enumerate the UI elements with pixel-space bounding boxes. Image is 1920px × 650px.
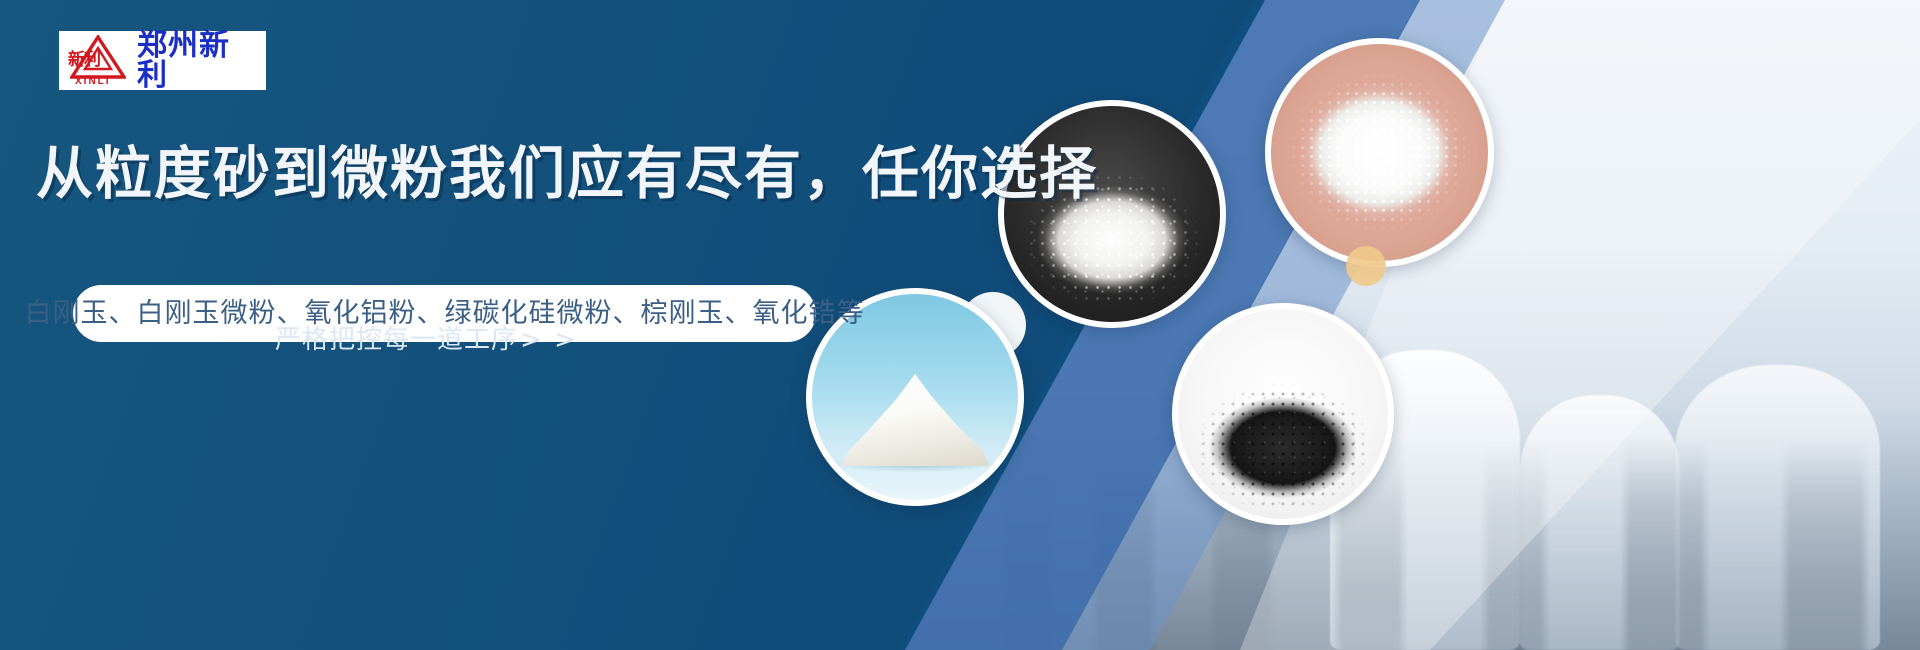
cta-label: 严格把控每一道工序: [275, 325, 518, 355]
product-list-text: 白刚玉、白刚玉微粉、氧化铝粉、绿碳化硅微粉、棕刚玉、氧化锆等: [25, 300, 865, 327]
promotional-banner: 新利 XINLI 郑州新利 从粒度砂到微粉我们应有尽有，任你选择 白刚玉、白刚玉…: [0, 0, 1920, 650]
product-photo-white-alumina-powder: [1265, 38, 1494, 267]
grain-texture: [1004, 106, 1220, 322]
cta-link[interactable]: 严格把控每一道工序> >: [275, 327, 578, 353]
decorative-amber-dot: [1346, 246, 1386, 286]
xinli-triangle-mark-icon: 新利 XINLI: [67, 34, 129, 88]
headline: 从粒度砂到微粉我们应有尽有，任你选择: [36, 146, 1098, 203]
cta-arrows: > >: [520, 325, 578, 355]
product-photo-black-silicon-carbide-grains: [1172, 303, 1394, 525]
powder-texture: [1271, 44, 1488, 261]
logo-mark-cn-text: 新利: [68, 52, 100, 69]
powder-cone-shape: [841, 374, 989, 466]
logo-mark-en-text: XINLI: [75, 77, 111, 87]
grain-texture: [1178, 309, 1388, 519]
company-name-text: 郑州新利: [137, 31, 260, 91]
company-logo[interactable]: 新利 XINLI 郑州新利: [59, 31, 266, 90]
product-photo-white-fused-alumina-grains: [998, 100, 1226, 328]
